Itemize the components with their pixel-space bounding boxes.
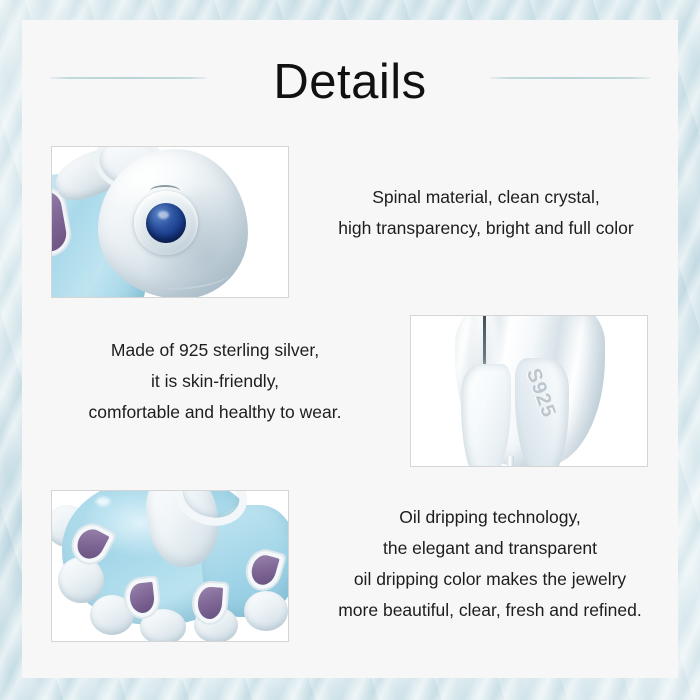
detail-text-1-line-2: high transparency, bright and full color [294,213,678,244]
silver-scallop-2 [90,595,134,635]
photo-gem-eye-art [52,147,288,297]
detail-text-3-line-1: Oil dripping technology, [302,502,678,533]
photo-hallmark-art: S925 [411,316,647,466]
product-photo-hallmark[interactable]: S925 [410,315,648,467]
title-rule-right [490,77,650,79]
detail-row-1: Spinal material, clean crystal, high tra… [22,146,678,306]
page-background: Details [0,0,700,700]
detail-text-2: Made of 925 sterling silver, it is skin-… [30,335,400,428]
detail-text-1-line-1: Spinal material, clean crystal, [294,182,678,213]
detail-row-2: Made of 925 sterling silver, it is skin-… [22,315,678,475]
page-title: Details [22,54,678,110]
silver-lobe-left [461,364,511,467]
gem-eye-bezel [141,198,191,248]
detail-text-3-line-3: oil dripping color makes the jewelry [302,564,678,595]
silver-scallop-3 [140,609,186,642]
silver-scallop-1 [58,557,104,603]
gem-highlight [158,211,169,219]
silver-stem [507,456,514,467]
blue-gemstone [146,203,186,243]
product-photo-enamel[interactable] [51,490,289,642]
silver-scallop-5 [244,591,288,631]
details-header: Details [22,20,678,140]
detail-text-3: Oil dripping technology, the elegant and… [302,502,678,626]
detail-text-1: Spinal material, clean crystal, high tra… [294,182,678,244]
detail-text-2-line-1: Made of 925 sterling silver, [30,335,400,366]
detail-text-2-line-3: comfortable and healthy to wear. [30,397,400,428]
detail-text-3-line-4: more beautiful, clear, fresh and refined… [302,595,678,626]
gem-eye-setting [134,191,198,255]
product-photo-gem-eye[interactable] [51,146,289,298]
detail-text-2-line-2: it is skin-friendly, [30,366,400,397]
enamel-highlight [96,497,110,506]
detail-row-3: Oil dripping technology, the elegant and… [22,490,678,655]
details-card: Details [22,20,678,678]
detail-text-3-line-2: the elegant and transparent [302,533,678,564]
photo-enamel-art [52,491,288,641]
